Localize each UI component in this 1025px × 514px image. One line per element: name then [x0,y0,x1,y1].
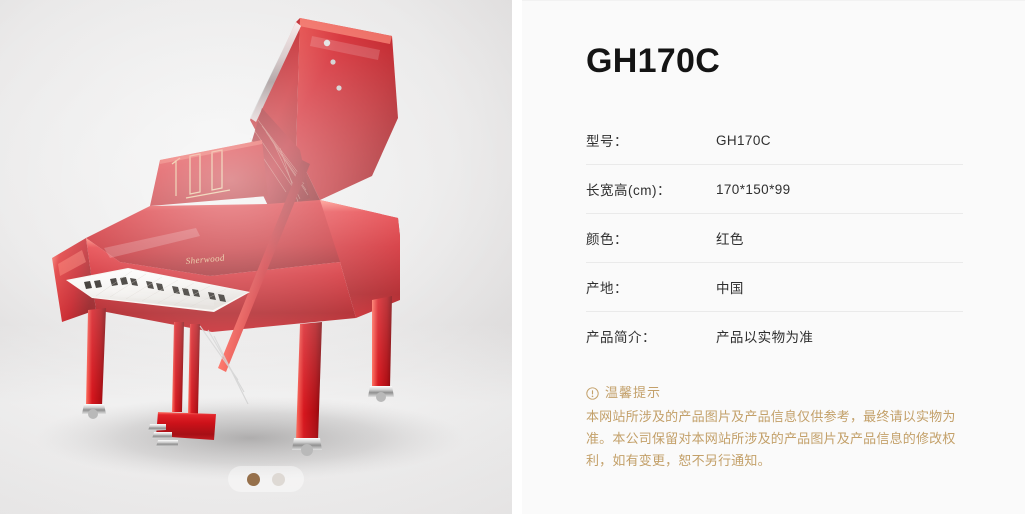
piano-lid-hinge-bolt [336,85,341,90]
spec-row-description: 产品简介： 产品以实物为准 [586,312,963,360]
product-spec-table: 型号： GH170C [586,116,963,164]
piano-leg-front-left [86,308,106,406]
gallery-dot-1[interactable] [247,473,260,486]
gallery-panel-divider [512,0,522,514]
spec-value: 中国 [716,263,963,311]
product-gallery[interactable]: Sherwood [0,0,512,514]
exclamation-circle-icon [586,387,599,400]
page-title: GH170C [586,43,963,80]
spec-value: 产品以实物为准 [716,312,963,360]
spec-label: 产品简介： [586,312,716,360]
piano-leg-rear-right [372,296,392,390]
product-notice: 温馨提示 本网站所涉及的产品图片及产品信息仅供参考，最终请以实物为准。本公司保留… [586,382,966,472]
spec-row-model: 型号： GH170C [586,116,963,164]
notice-body: 本网站所涉及的产品图片及产品信息仅供参考，最终请以实物为准。本公司保留对本网站所… [586,406,966,473]
piano-lyre-post [172,322,184,412]
piano-music-desk [150,140,268,206]
product-image[interactable]: Sherwood [0,0,512,514]
spec-value: GH170C [716,116,963,164]
gallery-pagination[interactable] [228,466,304,492]
gallery-dot-2[interactable] [272,473,285,486]
spec-row-dimensions: 长宽高(cm)： 170*150*99 [586,165,963,213]
product-detail-page: Sherwood [0,0,1025,514]
notice-header: 温馨提示 [586,382,966,404]
spec-label: 颜色： [586,214,716,262]
spec-row-origin: 产地： 中国 [586,263,963,311]
spec-label: 产地： [586,263,716,311]
piano-lid-hinge-bolt [330,59,335,64]
product-detail-panel: GH170C 型号： GH170C 长宽高(cm)： 170*150*99 颜色… [522,0,1025,514]
spec-row-color: 颜色： 红色 [586,214,963,262]
spec-value: 170*150*99 [716,165,963,213]
piano-lyre-post [188,324,200,414]
notice-title: 温馨提示 [605,382,661,404]
spec-label: 型号： [586,116,716,164]
spec-value: 红色 [716,214,963,262]
piano-leg-front-right [296,322,322,440]
spec-label: 长宽高(cm)： [586,165,716,213]
